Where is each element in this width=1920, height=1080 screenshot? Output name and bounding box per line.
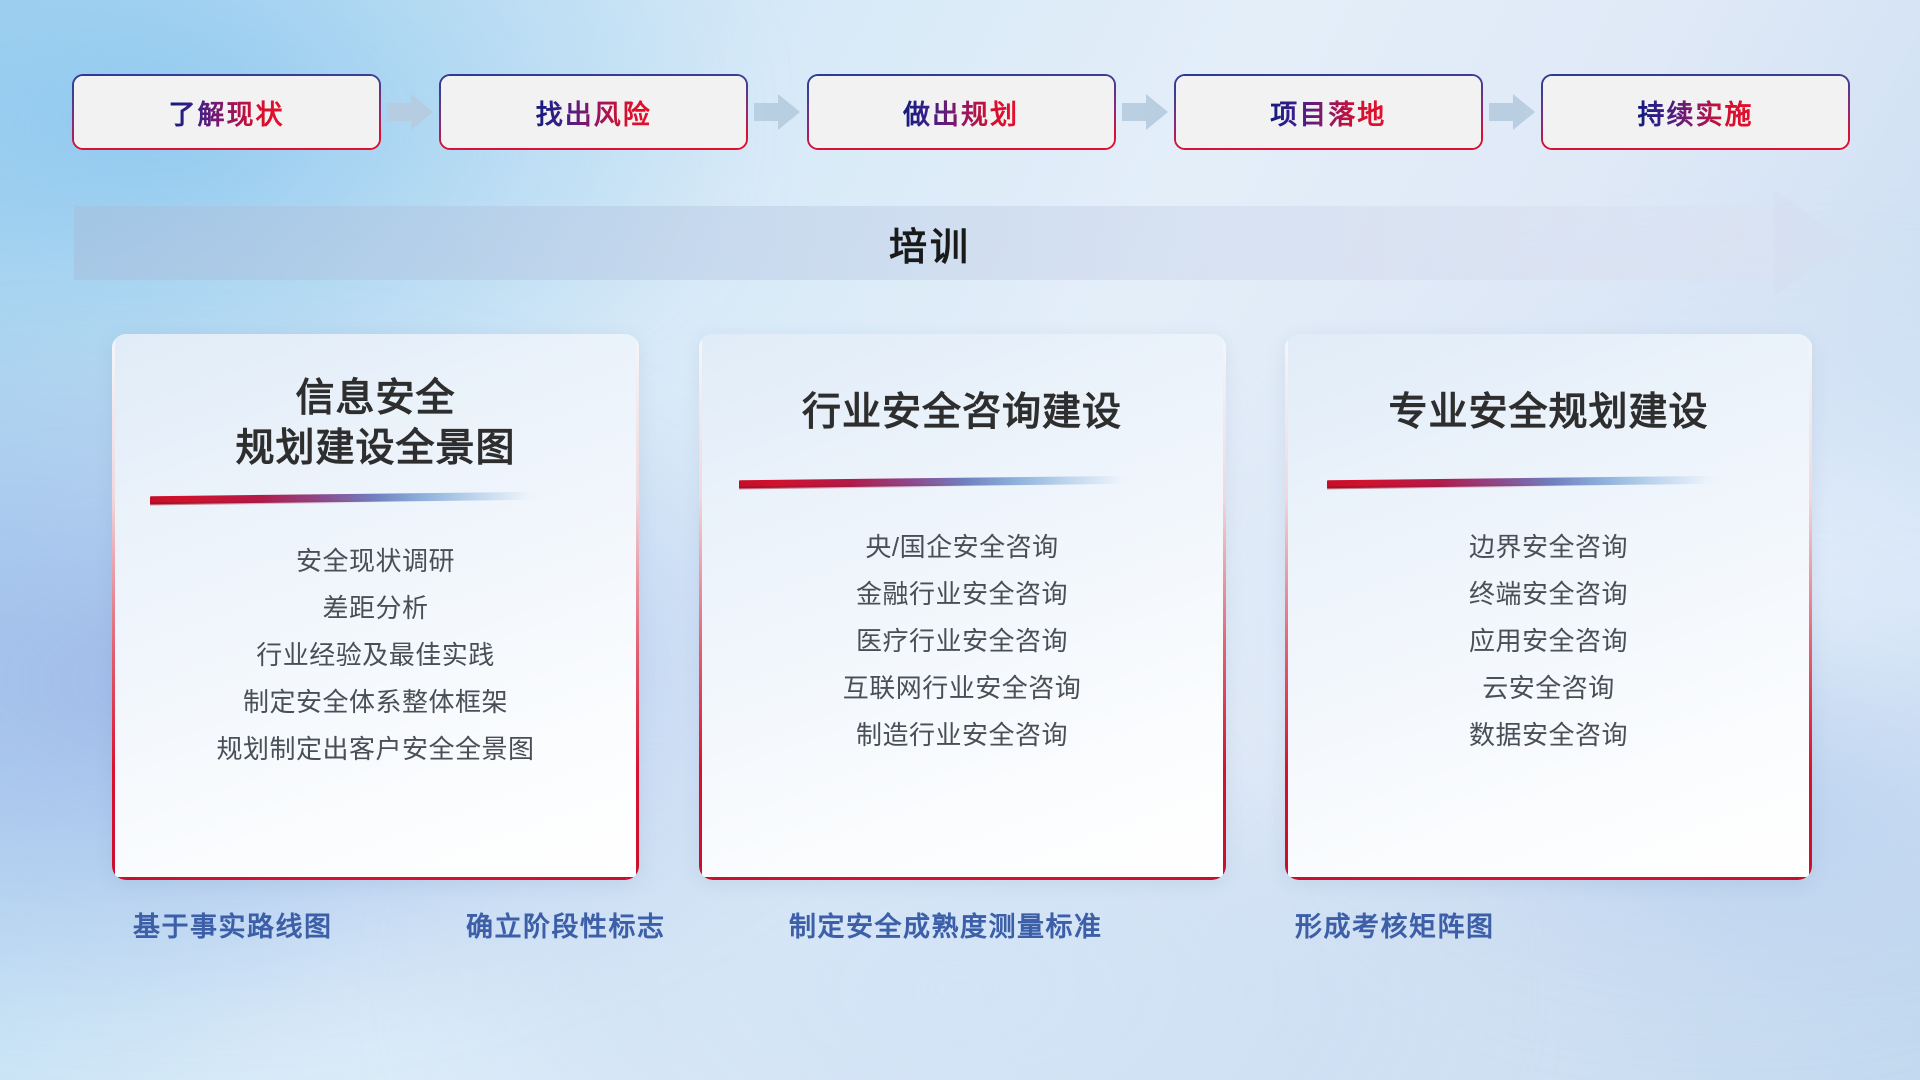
card-industry-security-consulting[interactable]: 行业安全咨询建设 央/国企安全咨询 金融行业安全咨询 医疗行业安全咨询 互联网行… [699, 334, 1226, 880]
list-item: 医疗行业安全咨询 [856, 618, 1068, 665]
list-item: 应用安全咨询 [1469, 618, 1628, 665]
step-box-1[interactable]: 了解现状 [74, 76, 379, 148]
arrow-right-icon-2 [754, 94, 800, 130]
list-item: 差距分析 [322, 585, 428, 632]
card-title-3: 专业安全规划建设 [1388, 388, 1708, 438]
arrow-right-icon-1 [387, 94, 433, 130]
banner-title: 培训 [74, 206, 1786, 280]
card-divider-3 [1327, 476, 1723, 488]
list-item: 云安全咨询 [1482, 665, 1615, 712]
step-label-4: 项目落地 [1270, 93, 1386, 132]
footer-label-2: 确立阶段性标志 [466, 905, 666, 944]
list-item: 制定安全体系整体框架 [243, 679, 508, 726]
card-information-security-panorama[interactable]: 信息安全 规划建设全景图 安全现状调研 差距分析 行业经验及最佳实践 制定安全体… [112, 334, 639, 880]
card-title-1: 信息安全 规划建设全景图 [235, 374, 515, 474]
step-label-3: 做出规划 [903, 93, 1019, 132]
card-title-1-line1: 信息安全 [295, 377, 455, 420]
step-box-5[interactable]: 持续实施 [1543, 76, 1848, 148]
footer-label-1: 基于事实路线图 [133, 905, 333, 944]
list-item: 互联网行业安全咨询 [843, 665, 1082, 712]
card-divider-2 [739, 476, 1135, 488]
card-title-3-line1: 专业安全规划建设 [1388, 391, 1708, 434]
step-label-1: 了解现状 [169, 93, 285, 132]
footer-label-4: 形成考核矩阵图 [1295, 905, 1495, 944]
step-box-3[interactable]: 做出规划 [809, 76, 1114, 148]
list-item: 制造行业安全咨询 [856, 712, 1068, 759]
card-row: 信息安全 规划建设全景图 安全现状调研 差距分析 行业经验及最佳实践 制定安全体… [112, 334, 1812, 880]
arrow-right-icon-3 [1122, 94, 1168, 130]
list-item: 规划制定出客户安全全景图 [216, 726, 534, 773]
card-title-2-line1: 行业安全咨询建设 [802, 391, 1122, 434]
card-professional-security-planning[interactable]: 专业安全规划建设 边界安全咨询 终端安全咨询 应用安全咨询 云安全咨询 数据安全… [1285, 334, 1812, 880]
card-list-1: 安全现状调研 差距分析 行业经验及最佳实践 制定安全体系整体框架 规划制定出客户… [146, 538, 605, 773]
list-item: 终端安全咨询 [1469, 571, 1628, 618]
step-box-4[interactable]: 项目落地 [1176, 76, 1481, 148]
step-label-5: 持续实施 [1638, 93, 1754, 132]
card-list-3: 边界安全咨询 终端安全咨询 应用安全咨询 云安全咨询 数据安全咨询 [1319, 524, 1778, 759]
training-banner: 培训 [74, 206, 1850, 280]
arrow-right-icon-4 [1489, 94, 1535, 130]
card-title-1-line2: 规划建设全景图 [235, 424, 515, 474]
list-item: 安全现状调研 [296, 538, 455, 585]
process-step-row: 了解现状 找出风险 做出规划 项目落地 持续实施 [74, 76, 1848, 148]
footer-label-row: 基于事实路线图 确立阶段性标志 制定安全成熟度测量标准 形成考核矩阵图 [0, 905, 1920, 961]
list-item: 边界安全咨询 [1469, 524, 1628, 571]
card-list-2: 央/国企安全咨询 金融行业安全咨询 医疗行业安全咨询 互联网行业安全咨询 制造行… [733, 524, 1192, 759]
step-label-2: 找出风险 [536, 93, 652, 132]
list-item: 数据安全咨询 [1469, 712, 1628, 759]
list-item: 金融行业安全咨询 [856, 571, 1068, 618]
list-item: 行业经验及最佳实践 [256, 632, 495, 679]
step-box-2[interactable]: 找出风险 [441, 76, 746, 148]
card-title-2: 行业安全咨询建设 [802, 388, 1122, 438]
card-divider-1 [150, 492, 542, 504]
footer-label-3: 制定安全成熟度测量标准 [789, 905, 1103, 944]
list-item: 央/国企安全咨询 [865, 524, 1058, 571]
